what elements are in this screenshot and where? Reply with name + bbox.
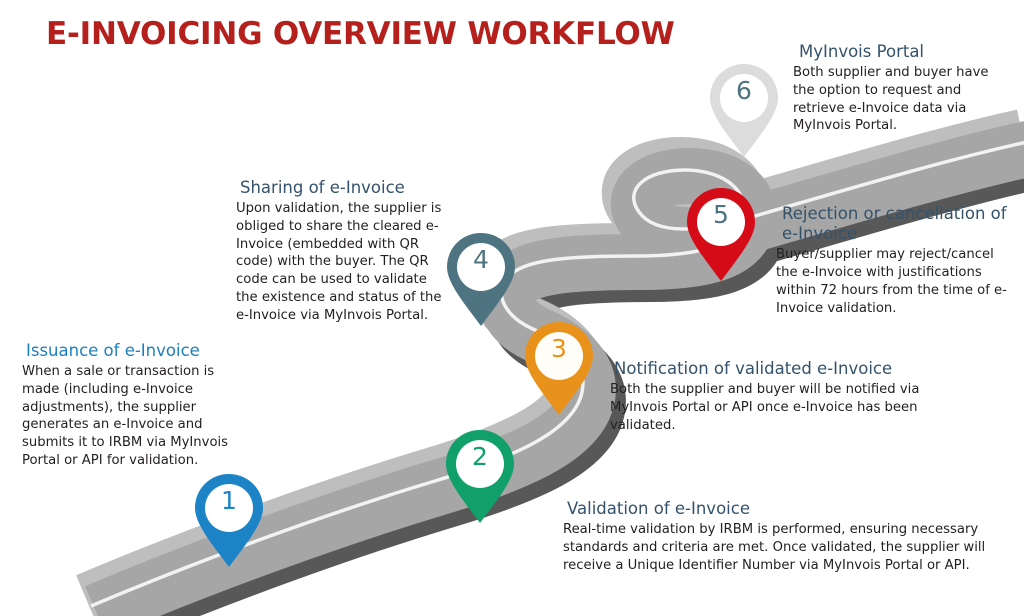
step-block-3: Notification of validated e-Invoice Both… — [610, 359, 980, 434]
map-pin-6[interactable]: 6 — [707, 62, 781, 160]
step-1-body: When a sale or transaction is made (incl… — [22, 363, 237, 470]
step-block-2: Validation of e-Invoice Real-time valida… — [563, 499, 988, 574]
step-3-body: Both the supplier and buyer will be noti… — [610, 381, 980, 434]
workflow-infographic: E-INVOICING OVERVIEW WORKFLOW 1 — [0, 0, 1024, 616]
step-4-heading: Sharing of e-Invoice — [236, 178, 448, 198]
map-pin-5[interactable]: 5 — [684, 186, 758, 284]
step-5-body: Buyer/supplier may reject/cancel the e-I… — [776, 246, 1008, 317]
map-pin-4[interactable]: 4 — [444, 231, 518, 329]
step-5-heading: Rejection or cancellation of e-Invoice — [776, 204, 1008, 244]
map-pin-1[interactable]: 1 — [192, 472, 266, 570]
step-4-body: Upon validation, the supplier is obliged… — [236, 200, 448, 324]
step-block-5: Rejection or cancellation of e-Invoice B… — [776, 204, 1008, 317]
step-block-4: Sharing of e-Invoice Upon validation, th… — [236, 178, 448, 324]
map-pin-2[interactable]: 2 — [443, 428, 517, 526]
step-2-body: Real-time validation by IRBM is performe… — [563, 521, 988, 574]
step-3-heading: Notification of validated e-Invoice — [610, 359, 980, 379]
step-2-heading: Validation of e-Invoice — [563, 499, 988, 519]
step-6-body: Both supplier and buyer have the option … — [793, 64, 1009, 135]
map-pin-3[interactable]: 3 — [522, 320, 596, 418]
step-6-heading: MyInvois Portal — [793, 42, 1009, 62]
step-block-1: Issuance of e-Invoice When a sale or tra… — [22, 341, 237, 470]
step-1-heading: Issuance of e-Invoice — [22, 341, 237, 361]
step-block-6: MyInvois Portal Both supplier and buyer … — [793, 42, 1009, 135]
